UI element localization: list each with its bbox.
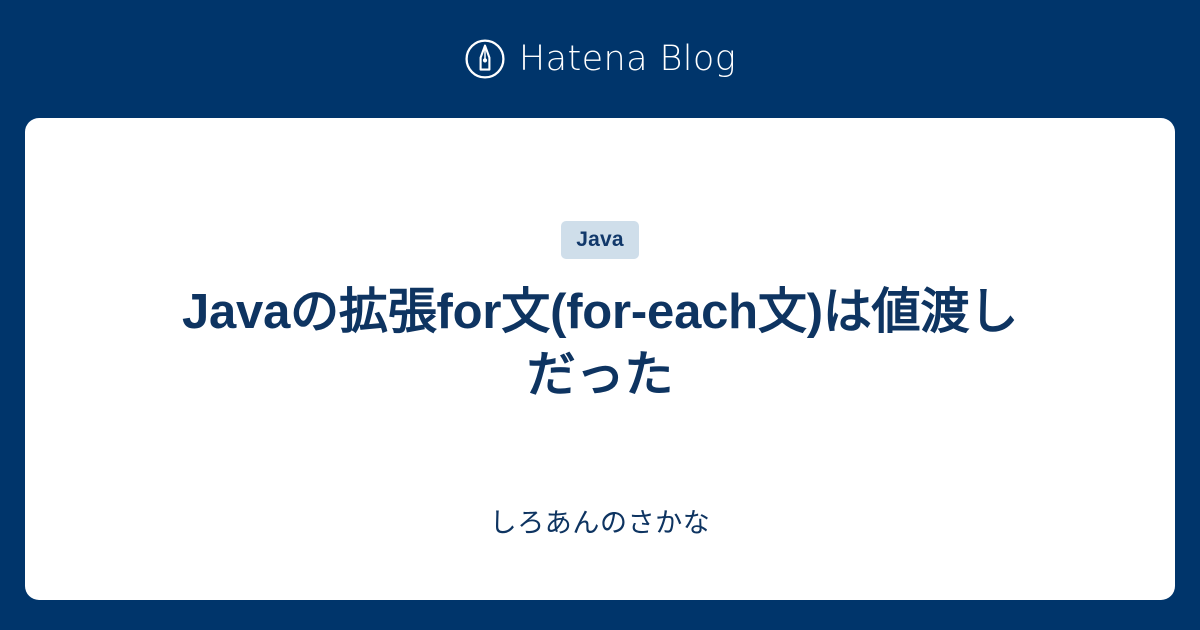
hatena-blog-wordmark: Hatena Blog xyxy=(519,42,736,77)
entry-card: Java Javaの拡張for文(for-each文)は値渡しだった しろあんの… xyxy=(25,118,1175,600)
entry-title: Javaの拡張for文(for-each文)は値渡しだった xyxy=(160,281,1040,406)
hatena-blog-brand-header: Hatena Blog xyxy=(0,0,1200,118)
hatena-pen-nib-icon xyxy=(464,38,506,80)
category-badge-java[interactable]: Java xyxy=(561,221,639,259)
blog-name: しろあんのさかな xyxy=(25,510,1175,537)
category-badge-row: Java xyxy=(25,221,1175,259)
ogp-card-canvas: Hatena Blog Java Javaの拡張for文(for-each文)は… xyxy=(0,0,1200,630)
